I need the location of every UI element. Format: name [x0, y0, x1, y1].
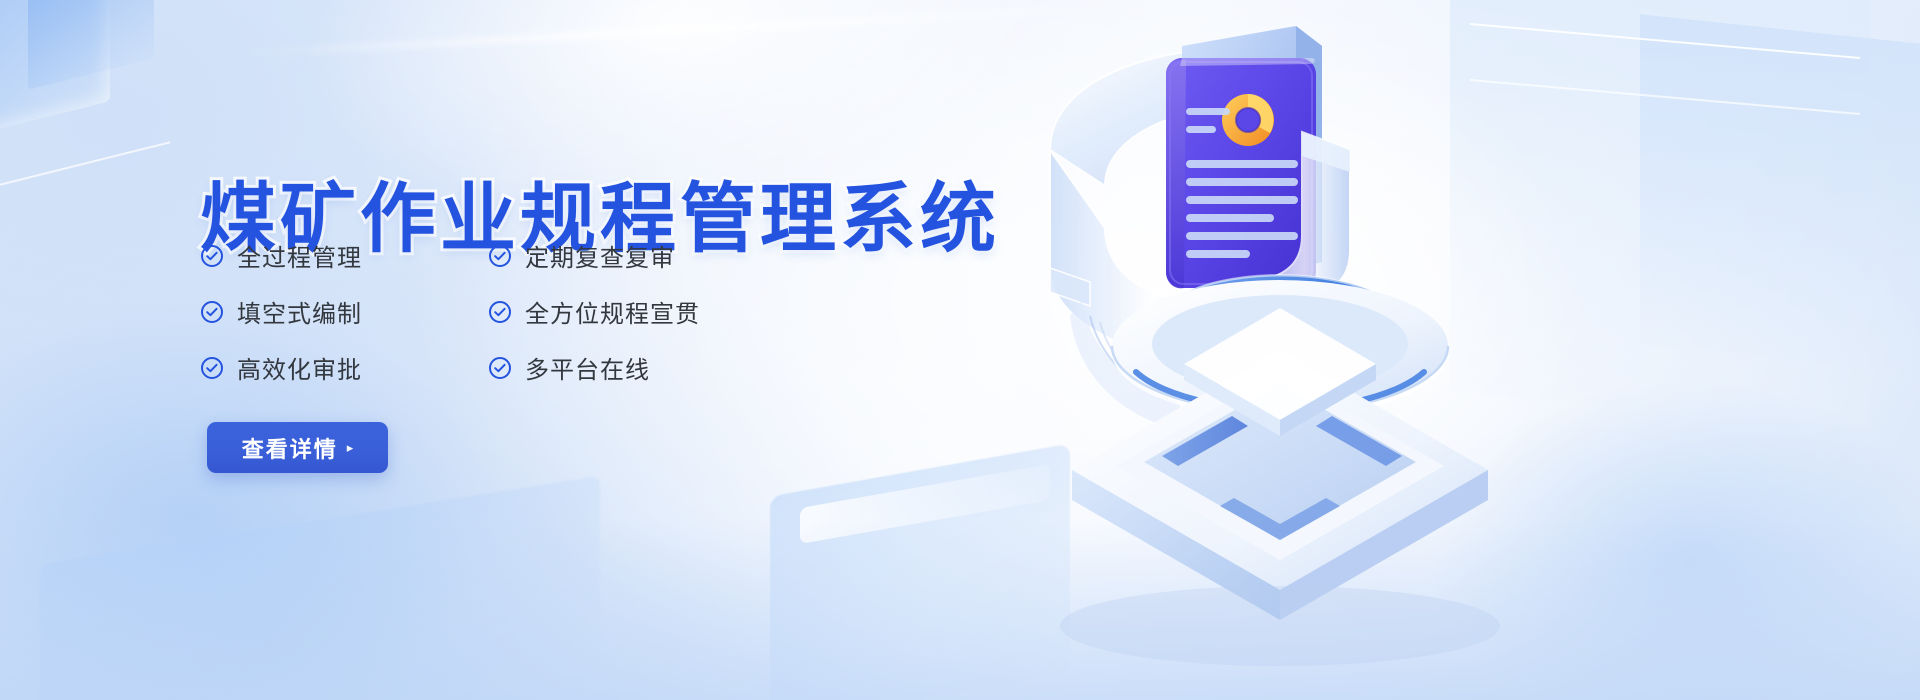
hero-content: 煤矿作业规程管理系统 全过程管理 定期复查复审	[0, 0, 1060, 700]
check-circle-icon	[488, 244, 512, 268]
feature-item: 填空式编制	[200, 294, 488, 329]
feature-item: 多平台在线	[488, 350, 776, 385]
check-circle-icon	[488, 300, 512, 324]
feature-item: 全过程管理	[200, 238, 488, 273]
feature-label: 填空式编制	[237, 294, 362, 329]
feature-label: 全过程管理	[237, 238, 362, 273]
feature-list: 全过程管理 定期复查复审 填空式编制	[200, 238, 776, 385]
chevron-right-icon: ▸	[347, 441, 354, 454]
check-circle-icon	[200, 300, 224, 324]
check-circle-icon	[488, 356, 512, 380]
view-details-label: 查看详情	[242, 432, 338, 464]
decorative-panel-right-secondary	[1640, 14, 1920, 376]
feature-label: 多平台在线	[525, 350, 650, 385]
feature-item: 高效化审批	[200, 350, 488, 385]
feature-label: 高效化审批	[237, 350, 362, 385]
feature-item: 全方位规程宣贯	[488, 294, 776, 329]
hero-banner: 煤矿作业规程管理系统 全过程管理 定期复查复审	[0, 0, 1920, 700]
feature-item: 定期复查复审	[488, 238, 776, 273]
check-circle-icon	[200, 244, 224, 268]
feature-label: 定期复查复审	[525, 238, 675, 273]
view-details-button[interactable]: 查看详情 ▸	[207, 422, 388, 473]
feature-label: 全方位规程宣贯	[525, 294, 700, 329]
check-circle-icon	[200, 356, 224, 380]
